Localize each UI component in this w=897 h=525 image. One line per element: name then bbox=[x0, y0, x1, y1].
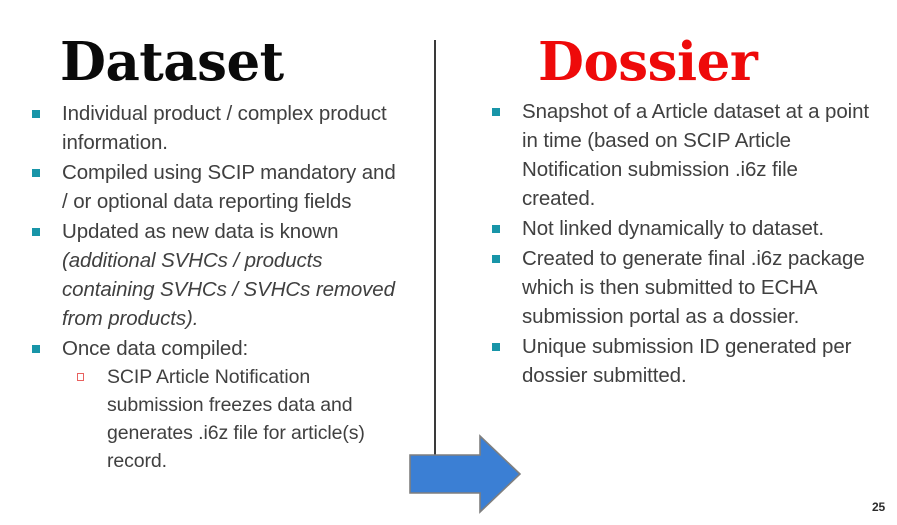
dataset-bullet-list: Individual product / complex product inf… bbox=[26, 99, 398, 476]
bullet-text: Unique submission ID generated per dossi… bbox=[522, 335, 851, 387]
bullet-text: Once data compiled: bbox=[62, 337, 248, 360]
list-item: Snapshot of a Article dataset at a point… bbox=[486, 97, 876, 213]
right-arrow-icon bbox=[408, 434, 522, 514]
sub-bullet-square-icon bbox=[77, 373, 84, 381]
bullet-square-icon bbox=[492, 108, 500, 116]
page-title-dataset: Dataset bbox=[60, 36, 284, 89]
sub-bullet-text: SCIP Article Notification submission fre… bbox=[107, 366, 365, 472]
bullet-text: Compiled using SCIP mandatory and / or o… bbox=[62, 161, 396, 213]
list-item: Compiled using SCIP mandatory and / or o… bbox=[26, 158, 398, 216]
bullet-square-icon bbox=[492, 255, 500, 263]
bullet-text: Snapshot of a Article dataset at a point… bbox=[522, 100, 869, 210]
dossier-bullet-list: Snapshot of a Article dataset at a point… bbox=[486, 97, 876, 391]
bullet-square-icon bbox=[32, 169, 40, 177]
list-item: Individual product / complex product inf… bbox=[26, 99, 398, 157]
bullet-text-italic: (additional SVHCs / products containing … bbox=[62, 246, 398, 333]
list-item: Created to generate final .i6z package w… bbox=[486, 244, 876, 331]
bullet-text: Created to generate final .i6z package w… bbox=[522, 247, 865, 328]
bullet-square-icon bbox=[32, 110, 40, 118]
list-item: Unique submission ID generated per dossi… bbox=[486, 332, 876, 390]
bullet-square-icon bbox=[32, 345, 40, 353]
column-divider bbox=[434, 40, 436, 460]
bullet-square-icon bbox=[492, 343, 500, 351]
list-item: Once data compiled: SCIP Article Notific… bbox=[26, 334, 398, 475]
list-item: Not linked dynamically to dataset. bbox=[486, 214, 876, 243]
bullet-square-icon bbox=[32, 228, 40, 236]
slide-canvas: Dataset Dossier Individual product / com… bbox=[0, 0, 897, 525]
list-item: Updated as new data is known (additional… bbox=[26, 217, 398, 333]
bullet-text: Individual product / complex product inf… bbox=[62, 102, 387, 154]
bullet-text: Updated as new data is known bbox=[62, 220, 338, 243]
bullet-text: Not linked dynamically to dataset. bbox=[522, 217, 824, 240]
bullet-square-icon bbox=[492, 225, 500, 233]
page-title-dossier: Dossier bbox=[538, 36, 757, 89]
dataset-sub-bullet-list: SCIP Article Notification submission fre… bbox=[62, 363, 398, 475]
page-number: 25 bbox=[872, 500, 885, 514]
list-item: SCIP Article Notification submission fre… bbox=[62, 363, 398, 475]
